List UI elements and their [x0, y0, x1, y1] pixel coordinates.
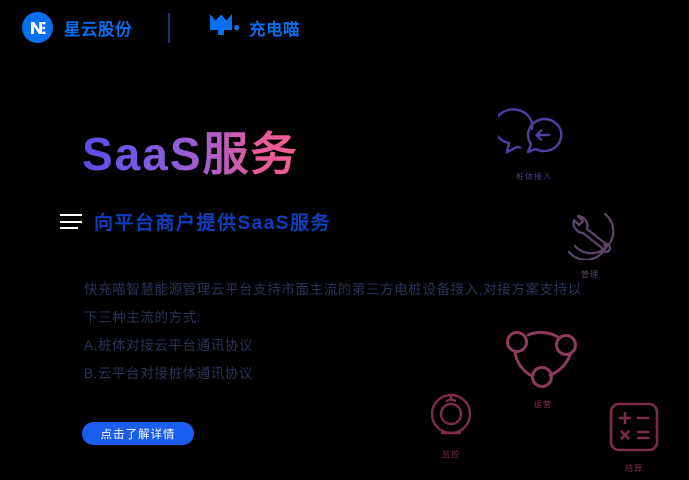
ne-circle-logo-icon — [22, 12, 53, 43]
feature-label: 监控 — [442, 449, 460, 460]
feature-monitor: 监控 — [426, 390, 476, 460]
feature-operate: 运营 — [503, 328, 583, 410]
feature-label: 管理 — [581, 269, 599, 280]
hamburger-menu-icon — [60, 214, 82, 229]
page-header: 星云股份 充电喵 — [0, 0, 689, 55]
wrench-icon — [561, 208, 619, 265]
calculator-icon — [607, 400, 661, 459]
feature-pile-access: 桩体接入 — [498, 102, 570, 182]
secondary-brand-name: 充电喵 — [249, 16, 300, 40]
feature-settle: 结算 — [607, 400, 661, 474]
subtitle-row: 向平台商户提供SaaS服务 — [60, 208, 331, 235]
hero-paragraph: 快充喵智慧能源管理云平台支持市面主流的第三方电桩设备接入,对接方案支持以下三种主… — [84, 276, 584, 332]
page-subtitle: 向平台商户提供SaaS服务 — [94, 208, 331, 235]
feature-manage: 管理 — [561, 208, 619, 280]
feature-label: 桩体接入 — [516, 171, 552, 182]
page-title: SaaS服务 — [82, 128, 299, 181]
chat-bubbles-arrow-icon — [498, 102, 570, 167]
network-nodes-icon — [503, 328, 583, 395]
cat-megaphone-logo-icon — [208, 12, 242, 43]
primary-brand[interactable]: 星云股份 — [22, 12, 132, 43]
monitor-device-icon — [426, 390, 476, 445]
learn-more-button[interactable]: 点击了解详情 — [82, 422, 194, 445]
brand-divider — [168, 13, 170, 43]
feature-label: 结算 — [625, 463, 643, 474]
feature-label: 运营 — [534, 399, 552, 410]
primary-brand-name: 星云股份 — [64, 16, 132, 40]
secondary-brand[interactable]: 充电喵 — [208, 12, 300, 43]
